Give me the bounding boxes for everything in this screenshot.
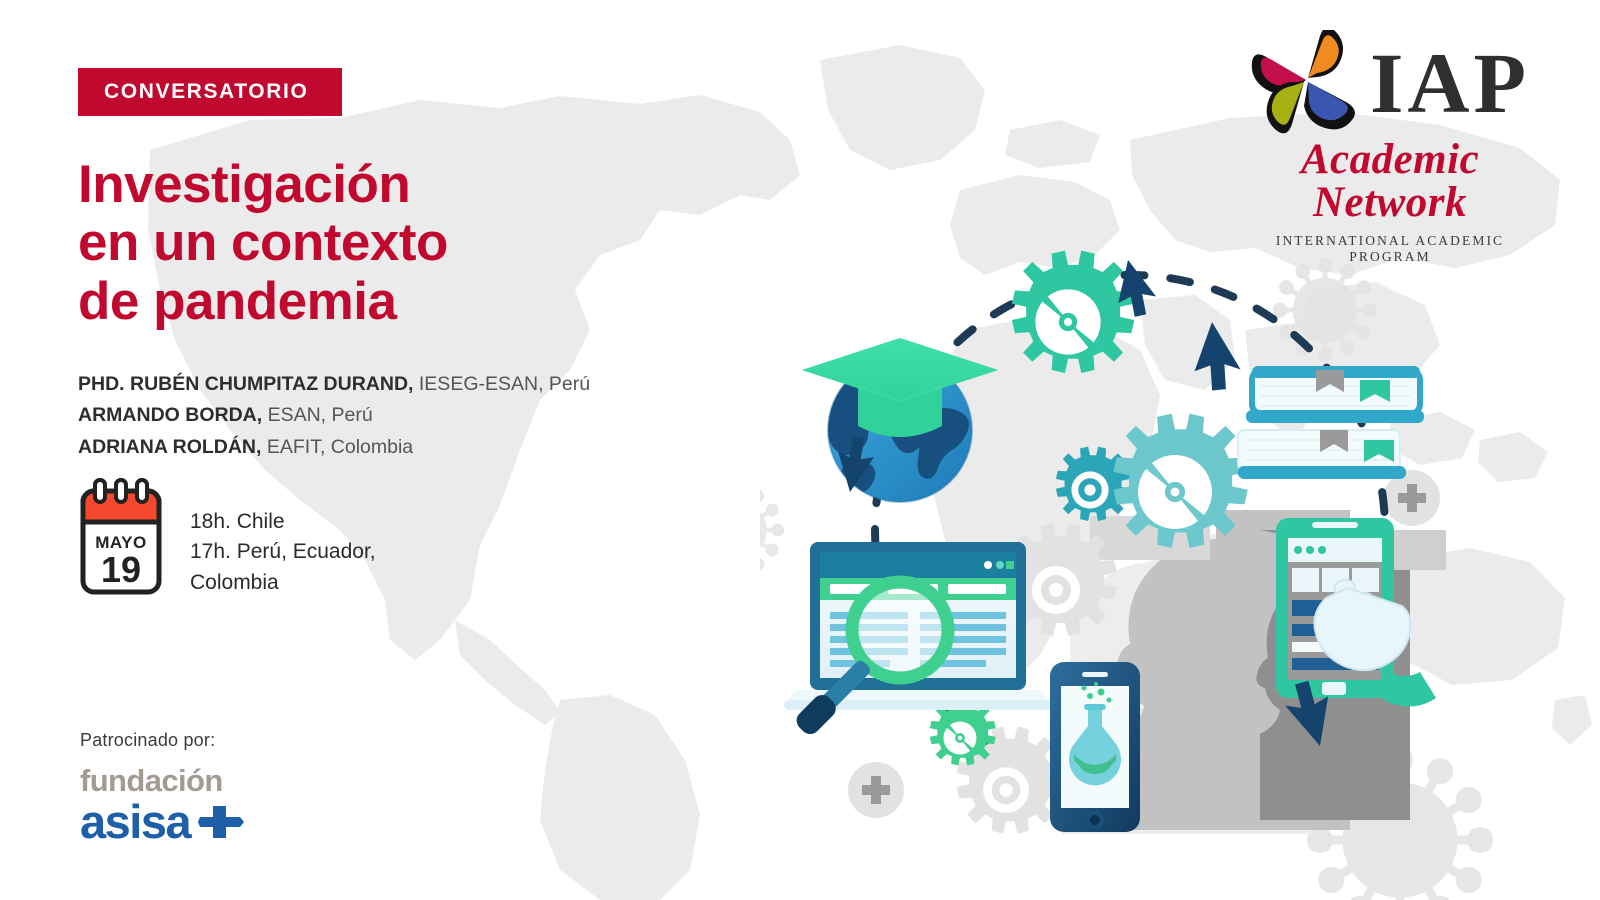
time-row: 18h. Chile <box>190 507 376 537</box>
event-flyer: CONVERSATORIO Investigación en un contex… <box>0 0 1600 900</box>
speaker-row: ADRIANA ROLDÁN, EAFIT, Colombia <box>78 432 698 464</box>
page-title: Investigación en un contexto de pandemia <box>78 156 698 331</box>
iap-logo: IAP Academic Network INTERNATIONAL ACADE… <box>1240 30 1540 265</box>
asisa-logo: fundación asisa <box>80 765 244 845</box>
iap-tagline: INTERNATIONAL ACADEMIC PROGRAM <box>1240 233 1540 265</box>
gear-icon <box>1113 414 1247 548</box>
date-time-block: MAYO 19 18h. Chile 17h. Perú, Ecuador, C… <box>78 478 376 598</box>
asisa-cross-icon <box>198 802 244 842</box>
time-row: 17h. Perú, Ecuador, <box>190 537 376 567</box>
sponsor-label: Patrocinado por: <box>80 730 244 751</box>
left-content-column: CONVERSATORIO Investigación en un contex… <box>78 68 698 464</box>
sponsor-block: Patrocinado por: fundación asisa <box>80 730 244 845</box>
speaker-name: ADRIANA ROLDÁN, <box>78 436 261 458</box>
title-line-2: en un contexto <box>78 214 698 272</box>
speaker-row: PHD. RUBÉN CHUMPITAZ DURAND, IESEG-ESAN,… <box>78 369 698 401</box>
laptop-with-magnifier-icon <box>784 542 1052 738</box>
speaker-row: ARMANDO BORDA, ESAN, Perú <box>78 400 698 432</box>
asisa-logo-top: fundación <box>80 765 244 796</box>
iap-script-text: Academic Network <box>1240 138 1540 224</box>
conversatorio-badge: CONVERSATORIO <box>78 68 342 116</box>
asisa-logo-bottom: asisa <box>80 798 190 845</box>
title-line-1: Investigación <box>78 156 698 214</box>
time-row: Colombia <box>190 568 376 598</box>
smartphone-with-flask-icon <box>1050 662 1140 832</box>
iap-letters: IAP <box>1370 40 1530 126</box>
speaker-name: ARMANDO BORDA, <box>78 404 262 426</box>
calendar-icon: MAYO 19 <box>78 478 164 596</box>
gear-icon <box>1012 251 1134 373</box>
speaker-affiliation: ESAN, Perú <box>262 404 373 426</box>
title-line-3: de pandemia <box>78 273 698 331</box>
calendar-day: 19 <box>101 549 141 590</box>
speakers-list: PHD. RUBÉN CHUMPITAZ DURAND, IESEG-ESAN,… <box>78 369 698 464</box>
stacked-books-icon <box>1238 366 1424 479</box>
speaker-affiliation: EAFIT, Colombia <box>261 436 413 458</box>
iap-pinwheel-icon <box>1250 30 1362 136</box>
graduation-cap-globe-icon <box>802 338 998 502</box>
research-illustration <box>760 230 1500 870</box>
speaker-affiliation: IESEG-ESAN, Perú <box>413 373 590 395</box>
speaker-name: PHD. RUBÉN CHUMPITAZ DURAND, <box>78 373 413 395</box>
time-list: 18h. Chile 17h. Perú, Ecuador, Colombia <box>190 507 376 598</box>
